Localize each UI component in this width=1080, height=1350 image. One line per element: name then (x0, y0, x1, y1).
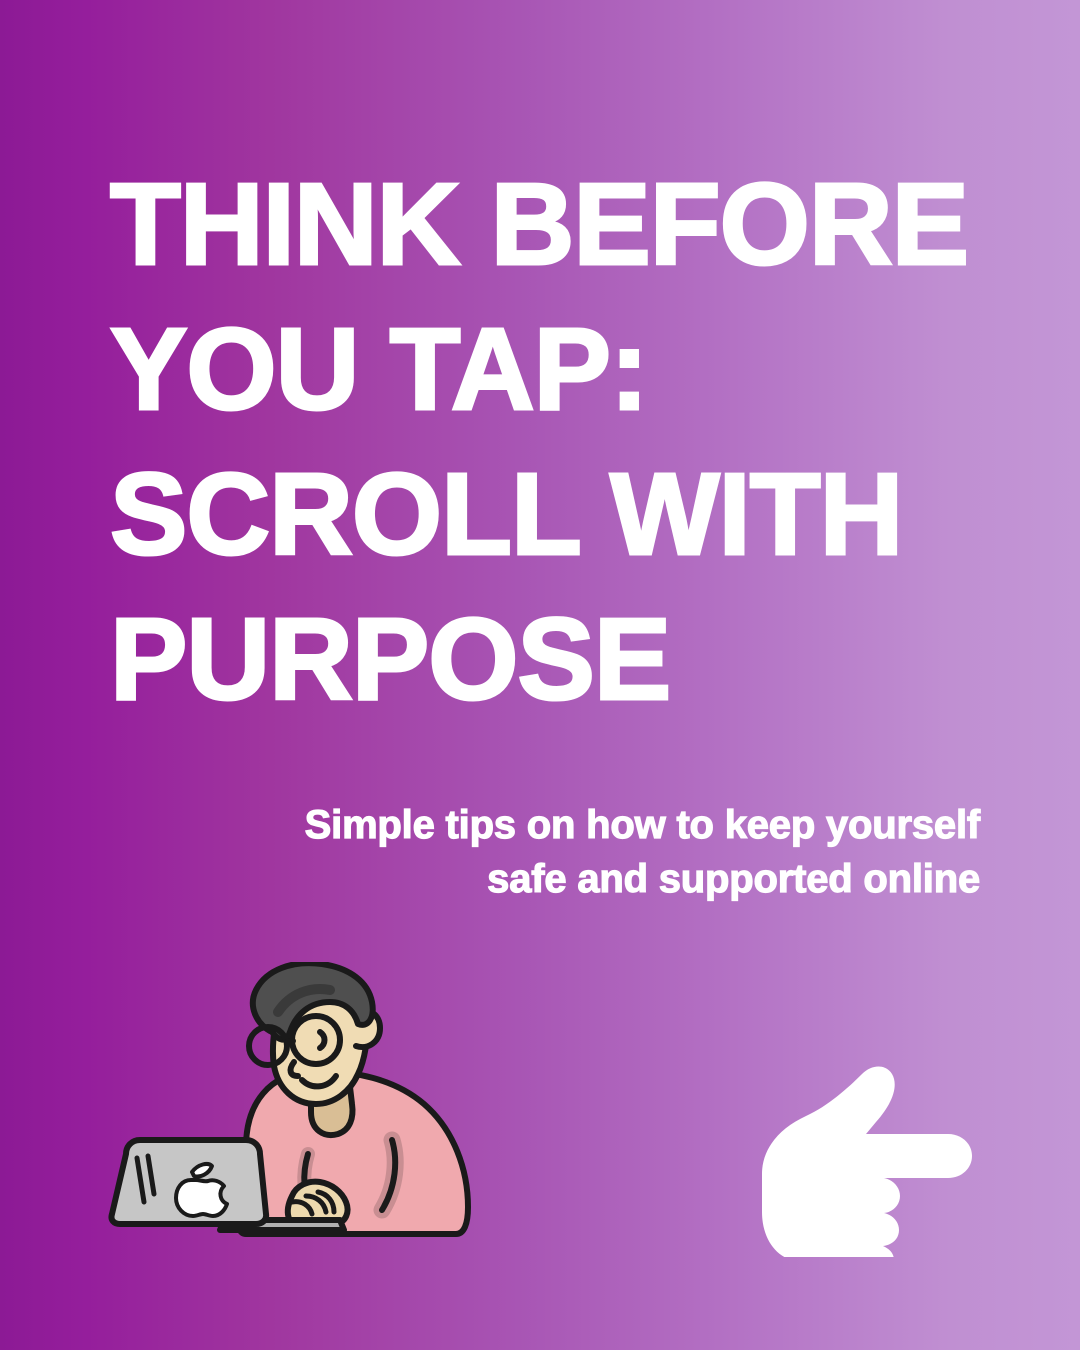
pointing-right-hand-icon (744, 1062, 984, 1257)
glasses-bridge (287, 1041, 293, 1042)
page-title: THINK BEFORE YOU TAP: SCROLL WITH PURPOS… (110, 152, 990, 732)
poster-canvas: THINK BEFORE YOU TAP: SCROLL WITH PURPOS… (0, 0, 1080, 1350)
page-subtitle: Simple tips on how to keep yourself safe… (120, 798, 980, 906)
person-using-laptop-illustration (96, 962, 496, 1262)
headline-line-1: THINK BEFORE (110, 152, 990, 297)
subtitle-line-2: safe and supported online (120, 852, 980, 906)
headline-line-4: PURPOSE (110, 587, 990, 732)
headline-line-2: YOU TAP: (110, 297, 990, 442)
apple-body (176, 1180, 227, 1216)
hand-shape (762, 1067, 972, 1258)
subtitle-line-1: Simple tips on how to keep yourself (120, 798, 980, 852)
headline-line-3: SCROLL WITH (110, 442, 990, 587)
